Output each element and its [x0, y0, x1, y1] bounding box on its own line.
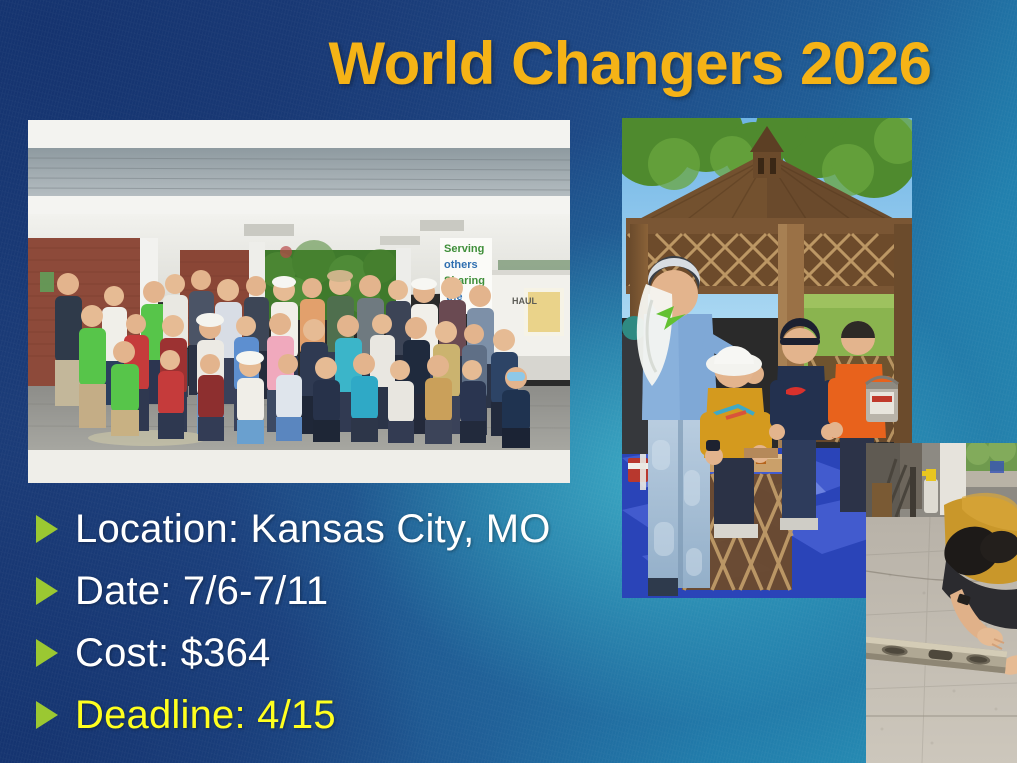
svg-text:others: others [444, 259, 478, 271]
bullet-label-location: Location: Kansas City, MO [75, 507, 551, 552]
triangle-bullet-icon [36, 701, 58, 729]
list-item[interactable]: Deadline: 4/15 [36, 684, 616, 746]
triangle-bullet-icon [36, 639, 58, 667]
bullet-label-cost: Cost: $364 [75, 631, 270, 676]
list-item[interactable]: Cost: $364 [36, 622, 616, 684]
triangle-bullet-icon [36, 577, 58, 605]
list-item[interactable]: Date: 7/6-7/11 [36, 560, 616, 622]
presentation-slide: World Changers 2026 [0, 0, 1017, 763]
bullet-list: Location: Kansas City, MO Date: 7/6-7/11… [36, 498, 616, 746]
bullet-label-date: Date: 7/6-7/11 [75, 569, 328, 614]
slide-title: World Changers 2026 [300, 32, 960, 95]
level-photo-graphic [866, 443, 1017, 763]
bullet-label-deadline: Deadline: 4/15 [75, 693, 336, 738]
level-photo [866, 443, 1017, 763]
group-photo-graphic: HAUL Serving others Sharing the [28, 120, 570, 483]
svg-text:Serving: Serving [444, 243, 484, 255]
triangle-bullet-icon [36, 515, 58, 543]
group-photo: HAUL Serving others Sharing the [28, 120, 570, 483]
svg-text:HAUL: HAUL [512, 296, 537, 306]
list-item[interactable]: Location: Kansas City, MO [36, 498, 616, 560]
